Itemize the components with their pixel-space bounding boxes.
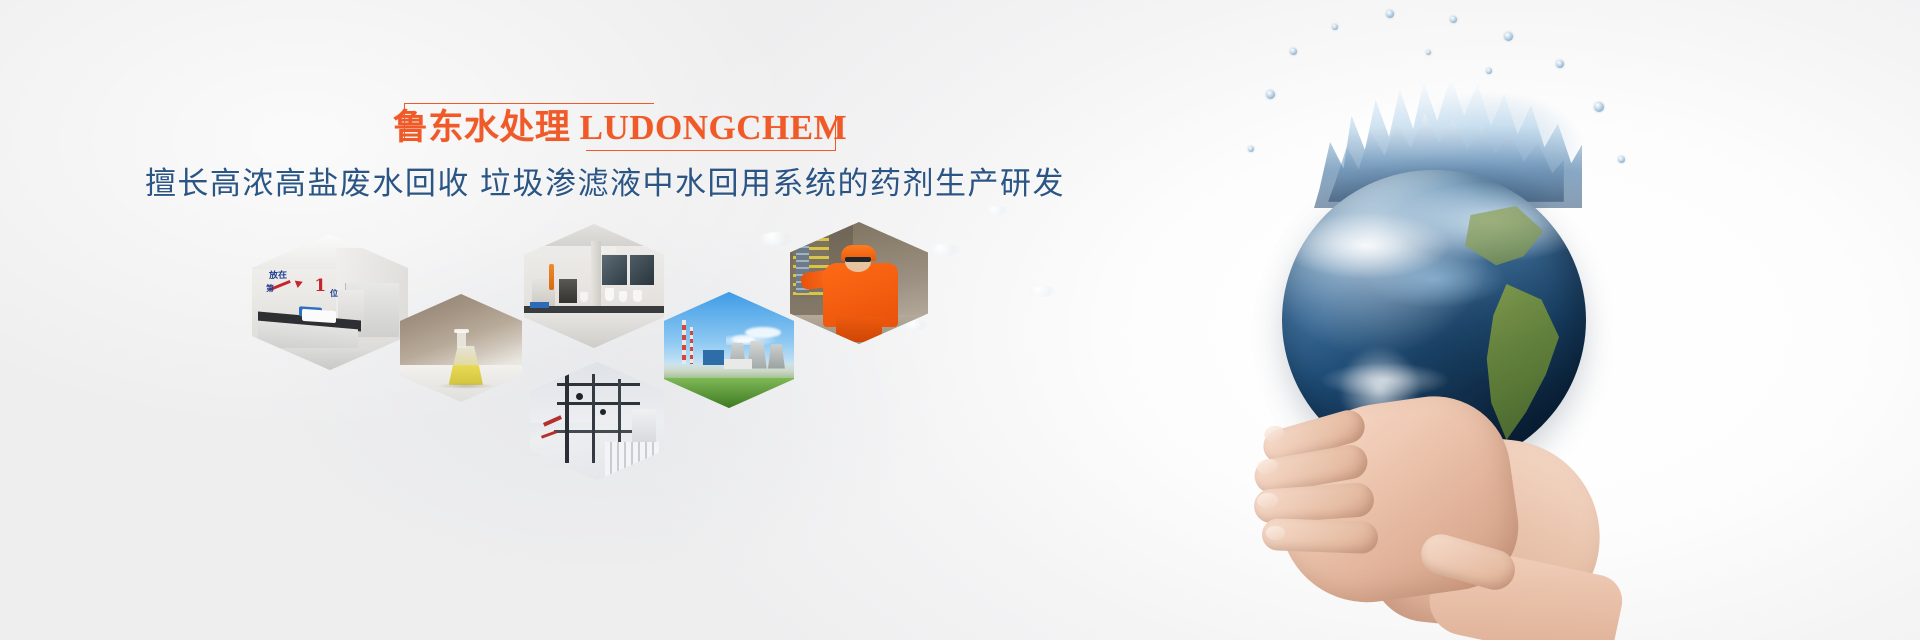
water-droplet [1556, 60, 1564, 68]
water-droplet [1248, 146, 1254, 152]
water-droplet [1332, 24, 1338, 30]
hexagon-lab-glassware-bench[interactable] [524, 224, 664, 348]
water-droplet [1426, 50, 1431, 55]
water-droplet [1618, 156, 1625, 163]
water-droplet [1266, 90, 1275, 99]
photo-yellow-liquid-flask [400, 294, 522, 402]
water-droplet [1450, 16, 1457, 23]
bubble-decoration [1028, 286, 1056, 297]
water-globe-artwork [1140, 0, 1920, 640]
photo-power-plant-cooling-towers [664, 292, 794, 408]
photo-lab-glassware-bench [524, 224, 664, 348]
water-droplet [1386, 10, 1394, 18]
photo-worker-orange-coverall [790, 222, 928, 344]
wall-slogan-number: 1 [314, 278, 326, 295]
wall-slogan-line1: 放在 [269, 268, 287, 282]
photo-industrial-piping-skid [530, 362, 664, 480]
hexagon-yellow-liquid-flask[interactable] [400, 294, 522, 402]
water-droplet [1290, 48, 1297, 55]
water-droplet [1486, 68, 1492, 74]
wall-slogan-line3: 位 [330, 288, 338, 299]
hero-banner: 鲁东水处理 LUDONGCHEM 擅长高浓高盐废水回收 垃圾渗滤液中水回用系统的… [0, 0, 1920, 640]
hexagon-photo-cluster: 放在 第 1 位 [0, 0, 1000, 640]
wall-slogan-line2: 第 [266, 283, 274, 294]
hexagon-worker[interactable] [790, 222, 928, 344]
hexagon-power-plant[interactable] [664, 292, 794, 408]
hexagon-industrial-piping-skid[interactable] [530, 362, 664, 480]
photo-laboratory-room: 放在 第 1 位 [252, 234, 408, 370]
hands-holding-globe [1224, 346, 1644, 636]
water-droplet [1594, 102, 1604, 112]
water-droplet [1504, 32, 1513, 41]
hexagon-laboratory-room[interactable]: 放在 第 1 位 [252, 234, 408, 370]
